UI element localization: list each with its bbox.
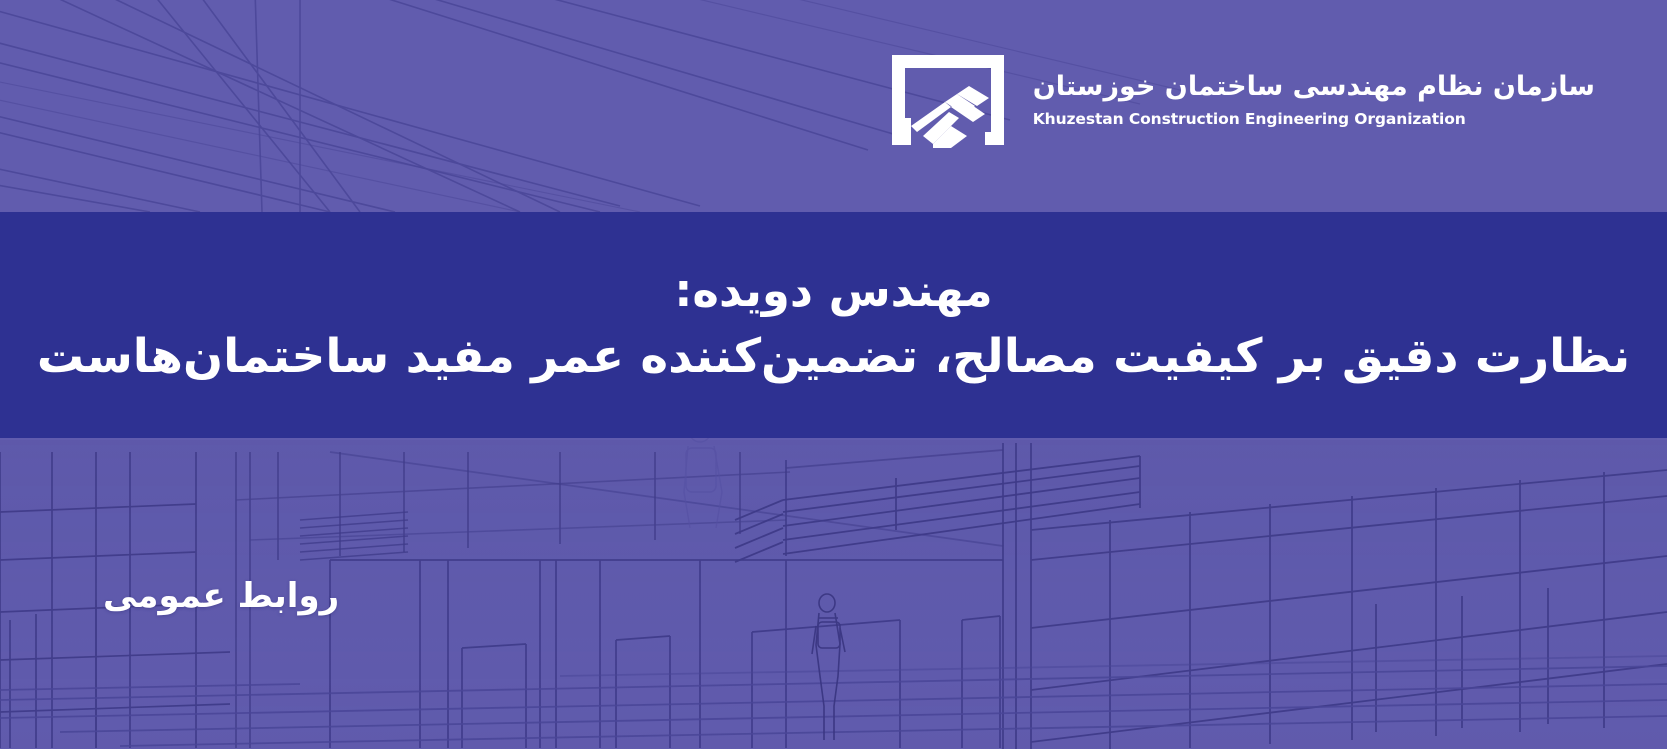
headline-main-line: نظارت دقیق بر کیفیت مصالح، تضمین‌کننده ع… bbox=[37, 326, 1630, 387]
headline-speaker-line: مهندس دویده: bbox=[674, 263, 992, 319]
headline-band: مهندس دویده: نظارت دقیق بر کیفیت مصالح، … bbox=[0, 212, 1667, 438]
organization-logo-lockup: سازمان نظام مهندسی ساختمان خوزستان Khuze… bbox=[889, 52, 1595, 148]
organization-name-fa: سازمان نظام مهندسی ساختمان خوزستان bbox=[1033, 69, 1595, 105]
khuzestan-ceo-logo-mark-icon bbox=[889, 52, 1007, 148]
news-banner-graphic: سازمان نظام مهندسی ساختمان خوزستان Khuze… bbox=[0, 0, 1667, 749]
logo-text-block: سازمان نظام مهندسی ساختمان خوزستان Khuze… bbox=[1033, 69, 1595, 131]
organization-name-en: Khuzestan Construction Engineering Organ… bbox=[1033, 109, 1466, 131]
public-relations-label: روابط عمومی bbox=[103, 576, 339, 616]
